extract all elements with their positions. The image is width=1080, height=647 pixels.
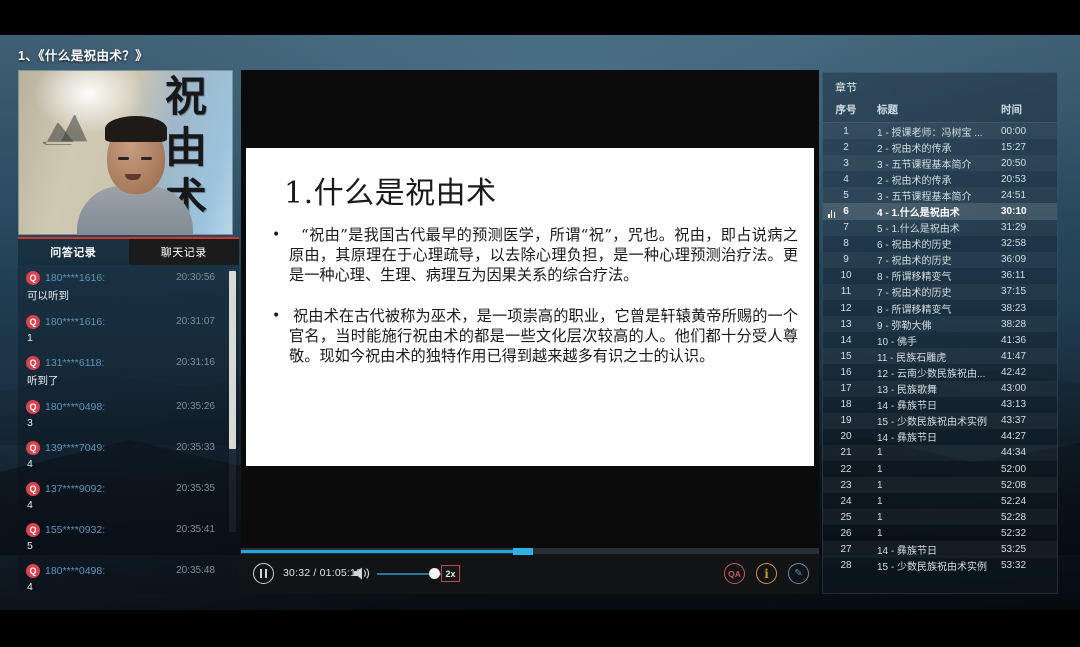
bullet-dot-icon: •	[272, 307, 289, 366]
playlist-row-time: 42:42	[1001, 367, 1057, 378]
chat-message-time: 20:35:48	[176, 565, 215, 576]
playlist-row-title: 7 - 祝由术的历史	[869, 284, 1001, 299]
playlist-row-no: 26	[823, 528, 869, 539]
tab-qa-records-label: 问答记录	[50, 244, 96, 260]
playlist-row-time: 52:24	[1001, 496, 1057, 507]
playlist-row-active[interactable]: 64 - 1.什么是祝由术30:10	[823, 203, 1057, 219]
playlist-row-title: 8 - 所谓移精变气	[869, 301, 1001, 316]
playlist-row-no-label: 21	[840, 447, 851, 458]
playlist-row-no-label: 27	[840, 544, 851, 555]
player-controls: 30:32 / 01:05:10 2x QA	[241, 548, 819, 594]
playlist-row-no-label: 17	[840, 383, 851, 394]
playlist-row[interactable]: 2815 - 少数民族祝由术实例53:32	[823, 558, 1057, 574]
playlist-row-title: 1	[869, 528, 1001, 539]
chat-scrollbar-thumb[interactable]	[229, 271, 236, 449]
playlist-row-title: 1	[869, 447, 1001, 458]
playlist-row[interactable]: 2014 - 彝族节日44:27	[823, 429, 1057, 445]
instructor-eye	[118, 157, 129, 160]
playlist-row-no: 7	[823, 222, 869, 233]
playlist-row-no: 6	[823, 206, 869, 217]
slide-bullet: • “祝由”是我国古代最早的预测医学，所谓“祝”，咒也。祝由，即占说病之原由，其…	[272, 226, 798, 285]
playlist-row[interactable]: 26152:32	[823, 525, 1057, 541]
playlist-row[interactable]: 86 - 祝由术的历史32:58	[823, 236, 1057, 252]
playlist-row-no-label: 19	[840, 415, 851, 426]
chat-message-user: 180****0498:	[45, 401, 105, 413]
playlist-row[interactable]: 128 - 所谓移精变气38:23	[823, 300, 1057, 316]
question-badge-icon: Q	[26, 564, 40, 578]
playlist-row[interactable]: 33 - 五节课程基本简介20:50	[823, 155, 1057, 171]
playlist-row-no: 18	[823, 399, 869, 410]
playlist-row-no-label: 7	[843, 222, 849, 233]
now-playing-icon	[828, 210, 837, 218]
playlist-row-no: 20	[823, 431, 869, 442]
chat-message-time: 20:35:41	[176, 524, 215, 535]
slide-bullet-text: “祝由”是我国古代最早的预测医学，所谓“祝”，咒也。祝由，即占说病之原由，其原理…	[289, 226, 798, 285]
playlist-row-time: 43:00	[1001, 383, 1057, 394]
bullet-dot-icon: •	[272, 226, 289, 285]
playlist-row-title: 15 - 少数民族祝由术实例	[869, 558, 1001, 573]
question-badge-icon: Q	[26, 441, 40, 455]
playlist-row-time: 38:23	[1001, 303, 1057, 314]
question-badge-icon: Q	[26, 482, 40, 496]
playlist-row-time: 52:00	[1001, 464, 1057, 475]
playlist-row-title: 15 - 少数民族祝由术实例	[869, 413, 1001, 428]
playlist-row-title: 11 - 民族石雕虎	[869, 349, 1001, 364]
chat-message-text: 可以听到	[27, 288, 229, 303]
chat-message-text: 4	[27, 581, 229, 593]
playlist-row-time: 43:13	[1001, 399, 1057, 410]
slide-canvas: 1.什么是祝由术 • “祝由”是我国古代最早的预测医学，所谓“祝”，咒也。祝由，…	[246, 148, 814, 466]
playlist-row-no: 4	[823, 174, 869, 185]
playlist-row-time: 52:08	[1001, 480, 1057, 491]
playlist-row-time: 44:34	[1001, 447, 1057, 458]
playlist-row-title: 1 - 授课老师：冯树宝 ...	[869, 124, 1001, 139]
playlist-row-title: 7 - 祝由术的历史	[869, 252, 1001, 267]
chat-panel: 问答记录 聊天记录 Q180****1616:20:30:56可以听到Q180*…	[18, 237, 239, 594]
playlist-row-no-label: 14	[840, 335, 851, 346]
qa-icon-label: QA	[728, 569, 741, 579]
playlist-row-no: 19	[823, 415, 869, 426]
question-badge-icon: Q	[26, 356, 40, 370]
chat-message-user: 155****0932:	[45, 524, 105, 536]
bottom-letterbox-bar	[0, 610, 1080, 647]
pencil-icon-label: ✎	[794, 568, 802, 579]
playlist-row-no-label: 2	[843, 142, 849, 153]
playlist-row-no-label: 26	[840, 528, 851, 539]
playlist-title: 章节	[823, 73, 1057, 99]
tab-chat-records[interactable]: 聊天记录	[129, 239, 240, 265]
playlist-row-time: 24:51	[1001, 190, 1057, 201]
playlist-row-no: 12	[823, 303, 869, 314]
pencil-icon[interactable]: ✎	[788, 563, 809, 584]
playlist-row-time: 36:11	[1001, 270, 1057, 281]
app-root: 1、《什么是祝由术？》 祝由术 问答记录 聊天记录 Q180****1616:2…	[0, 0, 1080, 647]
playlist-row-time: 41:47	[1001, 351, 1057, 362]
pause-button[interactable]	[253, 563, 274, 584]
playlist-row-no: 21	[823, 447, 869, 458]
playlist-row-no: 13	[823, 319, 869, 330]
playlist-row-time: 20:53	[1001, 174, 1057, 185]
chat-message: Q131****6118:20:31:16听到了	[26, 356, 229, 388]
playback-speed-button[interactable]: 2x	[441, 565, 460, 582]
playlist-row[interactable]: 1410 - 佛手41:36	[823, 332, 1057, 348]
chat-message: Q180****0498:20:35:484	[26, 564, 229, 593]
playlist-row-no: 9	[823, 254, 869, 265]
playlist-row-no: 3	[823, 158, 869, 169]
playlist-row-title: 5 - 1.什么是祝由术	[869, 220, 1001, 235]
playlist-row[interactable]: 97 - 祝由术的历史36:09	[823, 252, 1057, 268]
chat-tab-bar: 问答记录 聊天记录	[18, 239, 239, 265]
playlist-row-no: 23	[823, 480, 869, 491]
chat-message-time: 20:35:33	[176, 442, 215, 453]
playlist-row-title: 14 - 彝族节日	[869, 429, 1001, 444]
playlist-row-no-label: 18	[840, 399, 851, 410]
column-header-title: 标题	[869, 102, 1001, 117]
playlist-row[interactable]: 42 - 祝由术的传承20:53	[823, 171, 1057, 187]
chat-message-text: 1	[27, 332, 229, 344]
playlist-header: 序号 标题 时间	[823, 99, 1057, 123]
playlist-row-time: 32:58	[1001, 238, 1057, 249]
instructor-figure	[85, 102, 185, 234]
pause-bar-icon	[260, 569, 262, 578]
playlist-row-no-label: 6	[843, 206, 849, 217]
volume-icon[interactable]	[353, 566, 371, 581]
playlist-row-no-label: 13	[840, 319, 851, 330]
page-title: 1、《什么是祝由术？》	[18, 45, 148, 64]
progress-bar-fill	[241, 550, 513, 553]
chat-message: Q180****1616:20:31:071	[26, 315, 229, 344]
playlist-row-no: 28	[823, 560, 869, 571]
playlist-row[interactable]: 22152:00	[823, 461, 1057, 477]
playlist-row-no-label: 15	[840, 351, 851, 362]
playlist-row-time: 20:50	[1001, 158, 1057, 169]
chat-message-time: 20:31:07	[176, 316, 215, 327]
playlist-row-no-label: 11	[841, 286, 851, 297]
video-player[interactable]: 1.什么是祝由术 • “祝由”是我国古代最早的预测医学，所谓“祝”，咒也。祝由，…	[241, 70, 819, 594]
playlist-row[interactable]: 1612 - 云南少数民族祝由...42:42	[823, 364, 1057, 380]
column-header-no: 序号	[823, 102, 869, 117]
question-badge-icon: Q	[26, 400, 40, 414]
playlist-row-no-label: 4	[843, 174, 849, 185]
playlist-row[interactable]: 139 - 弥勒大佛38:28	[823, 316, 1057, 332]
playlist-row-time: 44:27	[1001, 431, 1057, 442]
playlist-row-title: 14 - 彝族节日	[869, 397, 1001, 412]
playlist-row-time: 31:29	[1001, 222, 1057, 233]
playlist-row-time: 53:32	[1001, 560, 1057, 571]
playlist-row[interactable]: 23152:08	[823, 477, 1057, 493]
chat-message-user: 180****0498:	[45, 565, 105, 577]
playlist-row-no-label: 28	[840, 560, 851, 571]
question-badge-icon: Q	[26, 315, 40, 329]
playlist-row-no-label: 1	[843, 126, 849, 137]
slide-body: • “祝由”是我国古代最早的预测医学，所谓“祝”，咒也。祝由，即占说病之原由，其…	[272, 226, 798, 389]
chat-message-text: 4	[27, 458, 229, 470]
tab-chat-records-label: 聊天记录	[161, 244, 207, 260]
playlist-row[interactable]: 24152:24	[823, 493, 1057, 509]
playlist-row-title: 3 - 五节课程基本简介	[869, 188, 1001, 203]
qa-icon[interactable]: QA	[724, 563, 745, 584]
chat-message-time: 20:35:26	[176, 401, 215, 412]
playlist-row-title: 9 - 弥勒大佛	[869, 317, 1001, 332]
playlist-row-title: 3 - 五节课程基本简介	[869, 156, 1001, 171]
playlist-row-time: 52:32	[1001, 528, 1057, 539]
playlist-row-no: 1	[823, 126, 869, 137]
playlist-row-title: 1	[869, 512, 1001, 523]
playlist-row-no: 2	[823, 142, 869, 153]
playlist-row[interactable]: 75 - 1.什么是祝由术31:29	[823, 220, 1057, 236]
top-letterbox-bar	[0, 0, 1080, 35]
playlist-row-time: 36:09	[1001, 254, 1057, 265]
playlist-row[interactable]: 21144:34	[823, 445, 1057, 461]
playlist-row-no: 10	[823, 270, 869, 281]
playlist-row-no-label: 12	[840, 303, 851, 314]
playlist-row[interactable]: 117 - 祝由术的历史37:15	[823, 284, 1057, 300]
chat-message-list[interactable]: Q180****1616:20:30:56可以听到Q180****1616:20…	[18, 265, 239, 594]
playlist-row-no-label: 22	[840, 464, 851, 475]
playlist-row-no-label: 23	[840, 480, 851, 491]
tab-qa-records[interactable]: 问答记录	[18, 239, 129, 265]
playlist-row-no-label: 20	[840, 431, 851, 442]
playlist-row-no: 17	[823, 383, 869, 394]
chat-message-user: 137****9092:	[45, 483, 105, 495]
playlist-row-time: 52:28	[1001, 512, 1057, 523]
playlist-row-time: 43:37	[1001, 415, 1057, 426]
chat-message-user: 139****7049:	[45, 442, 105, 454]
playlist-row-no-label: 5	[843, 190, 849, 201]
playlist-row-no: 11	[823, 286, 869, 297]
chat-message-text: 5	[27, 540, 229, 552]
playlist-row-no: 27	[823, 544, 869, 555]
slide-bullet: • 祝由术在古代被称为巫术，是一项崇高的职业，它曾是轩辕黄帝所赐的一个官名，当时…	[272, 307, 798, 366]
playlist-row-no-label: 9	[843, 254, 849, 265]
playlist-row-no-label: 24	[840, 496, 851, 507]
chapter-playlist[interactable]: 章节 序号 标题 时间 11 - 授课老师：冯树宝 ...00:0022 - 祝…	[822, 72, 1058, 594]
playlist-row-no: 15	[823, 351, 869, 362]
playlist-row-time: 30:10	[1001, 206, 1057, 217]
playlist-row[interactable]: 11 - 授课老师：冯树宝 ...00:00	[823, 123, 1057, 139]
playlist-row-title: 8 - 所谓移精变气	[869, 268, 1001, 283]
player-right-icons: QA i ✎	[724, 563, 809, 584]
playlist-rows: 11 - 授课老师：冯树宝 ...00:0022 - 祝由术的传承15:2733…	[823, 123, 1057, 574]
playback-speed-label: 2x	[445, 569, 455, 579]
instructor-webcam[interactable]: 祝由术	[18, 70, 233, 235]
chat-message-time: 20:31:16	[176, 357, 215, 368]
playlist-row-no-label: 16	[840, 367, 851, 378]
playlist-row[interactable]: 1713 - 民族歌舞43:00	[823, 381, 1057, 397]
playlist-row-no-label: 8	[843, 238, 849, 249]
playlist-row-title: 1	[869, 480, 1001, 491]
playlist-row-no: 24	[823, 496, 869, 507]
playlist-row-title: 2 - 祝由术的传承	[869, 140, 1001, 155]
chat-message: Q139****7049:20:35:334	[26, 441, 229, 470]
playlist-row-title: 1	[869, 464, 1001, 475]
playlist-row-no-label: 25	[840, 512, 851, 523]
playlist-row[interactable]: 53 - 五节课程基本简介24:51	[823, 187, 1057, 203]
playlist-row[interactable]: 2714 - 彝族节日53:25	[823, 541, 1057, 557]
time-display: 30:32 / 01:05:10	[283, 567, 362, 579]
info-icon[interactable]: i	[756, 563, 777, 584]
chat-message-user: 180****1616:	[45, 272, 105, 284]
question-badge-icon: Q	[26, 271, 40, 285]
playlist-row-title: 10 - 佛手	[869, 333, 1001, 348]
info-icon-label: i	[764, 567, 769, 581]
playlist-row-no: 22	[823, 464, 869, 475]
chat-message-text: 3	[27, 417, 229, 429]
instructor-eye	[141, 157, 152, 160]
pause-bar-icon	[265, 569, 267, 578]
playlist-row[interactable]: 1511 - 民族石雕虎41:47	[823, 348, 1057, 364]
playlist-row-no: 8	[823, 238, 869, 249]
chat-message-text: 4	[27, 499, 229, 511]
volume-slider-knob[interactable]	[429, 568, 440, 579]
chat-message-text: 听到了	[27, 373, 229, 388]
instructor-hair	[105, 116, 167, 142]
chat-message-time: 20:30:56	[176, 272, 215, 283]
playlist-row-time: 53:25	[1001, 544, 1057, 555]
chat-message: Q180****0498:20:35:263	[26, 400, 229, 429]
playlist-row[interactable]: 108 - 所谓移精变气36:11	[823, 268, 1057, 284]
playlist-row-no: 16	[823, 367, 869, 378]
playlist-row[interactable]: 25152:28	[823, 509, 1057, 525]
playlist-row-time: 38:28	[1001, 319, 1057, 330]
slide-title: 1.什么是祝由术	[284, 168, 497, 212]
playlist-row-no-label: 10	[840, 270, 851, 281]
playlist-row[interactable]: 1915 - 少数民族祝由术实例43:37	[823, 413, 1057, 429]
playlist-row-title: 4 - 1.什么是祝由术	[869, 204, 1001, 219]
chat-message: Q137****9092:20:35:354	[26, 482, 229, 511]
playlist-row-title: 14 - 彝族节日	[869, 542, 1001, 557]
playlist-row-title: 13 - 民族歌舞	[869, 381, 1001, 396]
playlist-row-no-label: 3	[843, 158, 849, 169]
playlist-row-title: 2 - 祝由术的传承	[869, 172, 1001, 187]
column-header-time: 时间	[1001, 102, 1057, 117]
playlist-row-no: 14	[823, 335, 869, 346]
chat-message: Q180****1616:20:30:56可以听到	[26, 271, 229, 303]
playlist-row-time: 41:36	[1001, 335, 1057, 346]
chat-message-time: 20:35:35	[176, 483, 215, 494]
playlist-row-title: 12 - 云南少数民族祝由...	[869, 365, 1001, 380]
playlist-row[interactable]: 1814 - 彝族节日43:13	[823, 397, 1057, 413]
chat-message-user: 131****6118:	[45, 357, 104, 369]
question-badge-icon: Q	[26, 523, 40, 537]
playlist-row-no: 5	[823, 190, 869, 201]
playlist-row-time: 37:15	[1001, 286, 1057, 297]
playlist-row-title: 1	[869, 496, 1001, 507]
playlist-row-time: 00:00	[1001, 126, 1057, 137]
controls-row: 30:32 / 01:05:10 2x QA	[241, 554, 819, 594]
playlist-row-time: 15:27	[1001, 142, 1057, 153]
slide-bullet-text: 祝由术在古代被称为巫术，是一项崇高的职业，它曾是轩辕黄帝所赐的一个官名，当时能施…	[289, 307, 798, 366]
chat-message: Q155****0932:20:35:415	[26, 523, 229, 552]
playlist-row[interactable]: 22 - 祝由术的传承15:27	[823, 139, 1057, 155]
playlist-row-title: 6 - 祝由术的历史	[869, 236, 1001, 251]
chat-message-user: 180****1616:	[45, 316, 105, 328]
playlist-row-no: 25	[823, 512, 869, 523]
